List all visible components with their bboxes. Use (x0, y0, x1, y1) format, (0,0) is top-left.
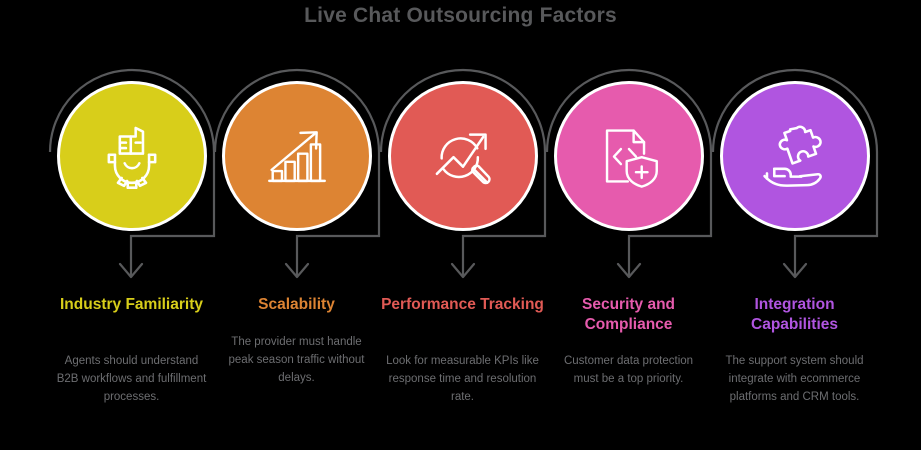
factor-heading-2: Scalability (214, 295, 379, 315)
document-code-shield-icon (592, 119, 666, 193)
icon-circle-3[interactable] (388, 81, 538, 231)
factor-heading-1: Industry Familiarity (49, 295, 214, 315)
icon-circle-wrapper-5 (717, 78, 873, 234)
icon-circle-wrapper-2 (219, 78, 375, 234)
factor-heading-3: Performance Tracking (380, 295, 545, 315)
factor-column-performance-tracking[interactable]: Performance Tracking Look for measurable… (380, 0, 545, 450)
factor-body-3: Look for measurable KPIs like response t… (380, 352, 545, 406)
gear-factory-icon (93, 117, 171, 195)
icon-circle-5[interactable] (720, 81, 870, 231)
factor-column-industry-familiarity[interactable]: Industry Familiarity Agents should under… (49, 0, 214, 450)
icon-circle-wrapper-3 (385, 78, 541, 234)
factor-column-scalability[interactable]: Scalability The provider must handle pea… (214, 0, 379, 450)
icon-circle-2[interactable] (222, 81, 372, 231)
infographic-canvas: Live Chat Outsourcing Factors (0, 0, 921, 450)
icon-circle-wrapper-1 (54, 78, 210, 234)
factor-heading-4: Security and Compliance (546, 295, 711, 336)
growth-bar-chart-icon (260, 119, 334, 193)
factor-body-1: Agents should understand B2B workflows a… (49, 352, 214, 406)
magnifier-trend-icon (425, 118, 501, 194)
factor-column-integration-capabilities[interactable]: Integration Capabilities The support sys… (712, 0, 877, 450)
icon-circle-wrapper-4 (551, 78, 707, 234)
factor-heading-5: Integration Capabilities (712, 295, 877, 336)
hand-puzzle-icon (756, 117, 834, 195)
factor-columns: Industry Familiarity Agents should under… (0, 0, 921, 450)
factor-body-5: The support system should integrate with… (712, 352, 877, 406)
factor-column-security-and-compliance[interactable]: Security and Compliance Customer data pr… (546, 0, 711, 450)
icon-circle-1[interactable] (57, 81, 207, 231)
icon-circle-4[interactable] (554, 81, 704, 231)
factor-body-2: The provider must handle peak season tra… (214, 333, 379, 387)
factor-body-4: Customer data protection must be a top p… (546, 352, 711, 388)
